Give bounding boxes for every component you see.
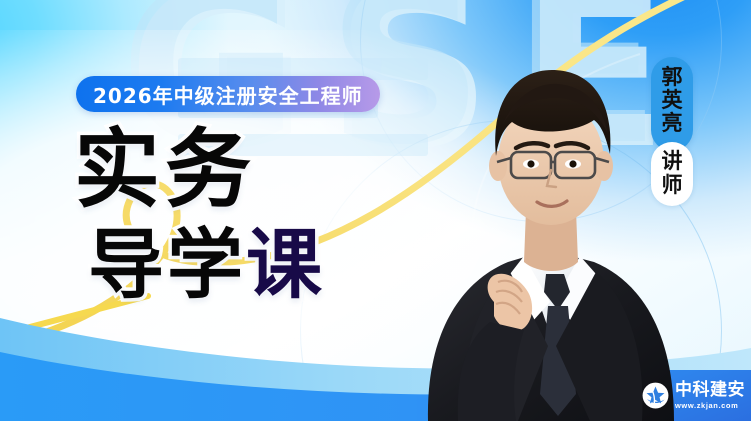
star-swoosh-logo-icon: [642, 382, 669, 409]
instructor-name-char-2: 英: [662, 89, 683, 112]
instructor-role-pill: 讲 师: [651, 142, 693, 206]
headline-line-1: 实务: [74, 128, 325, 212]
brand-name: 中科建安: [675, 382, 745, 399]
instructor-name-pill: 郭 英 亮: [651, 57, 693, 151]
course-title-banner: 2026年中级注册安全工程师: [76, 76, 380, 112]
instructor-role-char-2: 师: [662, 174, 683, 198]
instructor-role-char-1: 讲: [662, 150, 683, 174]
instructor-badge: 郭 英 亮 讲 师: [651, 57, 693, 206]
instructor-name-char-1: 郭: [662, 66, 683, 89]
headline-line-2-black: 导学: [88, 220, 246, 309]
headline-line-2: 导学课: [88, 228, 325, 302]
brand-url: www.zkjan.com: [675, 402, 745, 410]
brand-logo[interactable]: 中科建安 www.zkjan.com: [630, 370, 751, 421]
course-poster: GSE GSE: [0, 0, 751, 421]
headline-line-2-accent: 课: [246, 220, 325, 309]
course-title-banner-label: 2026年中级注册安全工程师: [93, 80, 363, 109]
brand-text-group: 中科建安 www.zkjan.com: [675, 382, 745, 410]
instructor-name-char-3: 亮: [662, 112, 683, 135]
headline-group: 实务 导学课: [74, 128, 325, 303]
